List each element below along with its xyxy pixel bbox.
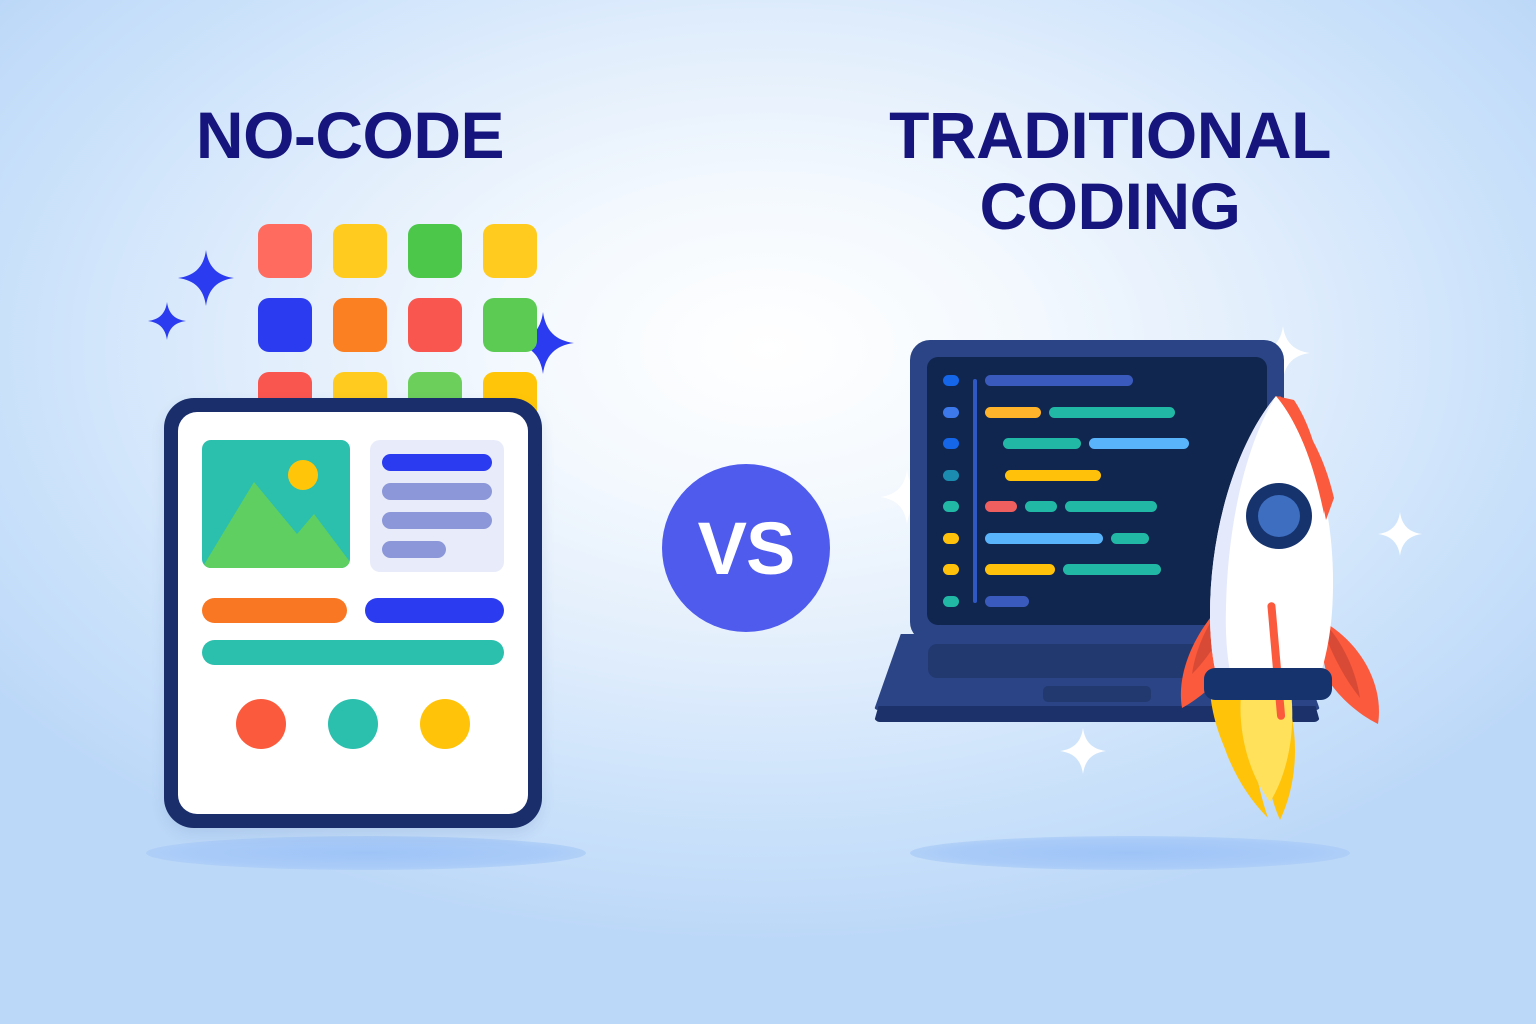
mountain-shape <box>202 440 350 568</box>
color-tile-row <box>258 224 537 278</box>
sparkle-blue-large <box>178 250 234 306</box>
code-token <box>985 407 1041 418</box>
code-segments <box>985 596 1029 607</box>
code-gutter-marker <box>943 564 959 575</box>
ground-shadow-right <box>910 836 1350 870</box>
orange-bar <box>202 598 347 623</box>
color-tile <box>483 298 537 352</box>
code-gutter-marker <box>943 533 959 544</box>
code-gutter-marker <box>943 375 959 386</box>
color-tile <box>258 298 312 352</box>
code-segments <box>985 501 1157 512</box>
card-surface <box>178 412 528 814</box>
red-dot <box>236 699 286 749</box>
code-segments <box>985 533 1149 544</box>
code-segments <box>985 375 1133 386</box>
trackpad <box>1043 686 1150 702</box>
page-title-right: TRADITIONAL CODING <box>820 100 1400 243</box>
code-segments <box>1005 470 1101 481</box>
code-token <box>1005 470 1101 481</box>
vs-badge: VS <box>662 464 830 632</box>
color-tile <box>333 298 387 352</box>
no-code-builder-card <box>164 398 542 828</box>
sparkle-blue-small <box>148 302 186 340</box>
image-placeholder <box>202 440 350 568</box>
color-tile <box>408 224 462 278</box>
code-gutter-marker <box>943 501 959 512</box>
code-token <box>985 501 1017 512</box>
code-token <box>985 533 1103 544</box>
code-token <box>985 564 1055 575</box>
code-token <box>985 596 1029 607</box>
editor-gutter-rule <box>973 379 977 603</box>
sparkle-white-bottom <box>1060 728 1106 774</box>
code-gutter-marker <box>943 438 959 449</box>
wide-teal-bar <box>202 640 504 665</box>
blue-bar <box>365 598 504 623</box>
panel-bar <box>382 541 446 558</box>
code-segments <box>985 564 1161 575</box>
rocket-icon <box>1148 378 1398 838</box>
code-gutter-marker <box>943 596 959 607</box>
color-tile <box>258 224 312 278</box>
code-segments <box>985 407 1175 418</box>
teal-dot <box>328 699 378 749</box>
code-token <box>1063 564 1161 575</box>
illustration-stage: NO-CODE TRADITIONAL CODING <box>0 0 1536 1024</box>
color-tile <box>408 298 462 352</box>
code-token <box>1025 501 1057 512</box>
panel-bar <box>382 512 492 529</box>
color-tile <box>333 224 387 278</box>
dot-row <box>202 699 504 749</box>
ground-shadow-left <box>146 836 586 870</box>
yellow-dot <box>420 699 470 749</box>
code-token <box>1003 438 1081 449</box>
code-token <box>1065 501 1157 512</box>
code-token <box>1111 533 1149 544</box>
color-tile-row <box>258 298 537 352</box>
panel-bar <box>382 483 492 500</box>
color-tile <box>483 224 537 278</box>
page-title-left: NO-CODE <box>120 100 580 171</box>
code-token <box>985 375 1133 386</box>
panel-bar <box>382 454 492 471</box>
card-action-row <box>202 598 504 623</box>
code-gutter-marker <box>943 470 959 481</box>
text-panel <box>370 440 504 572</box>
card-top-row <box>202 440 504 572</box>
code-gutter-marker <box>943 407 959 418</box>
